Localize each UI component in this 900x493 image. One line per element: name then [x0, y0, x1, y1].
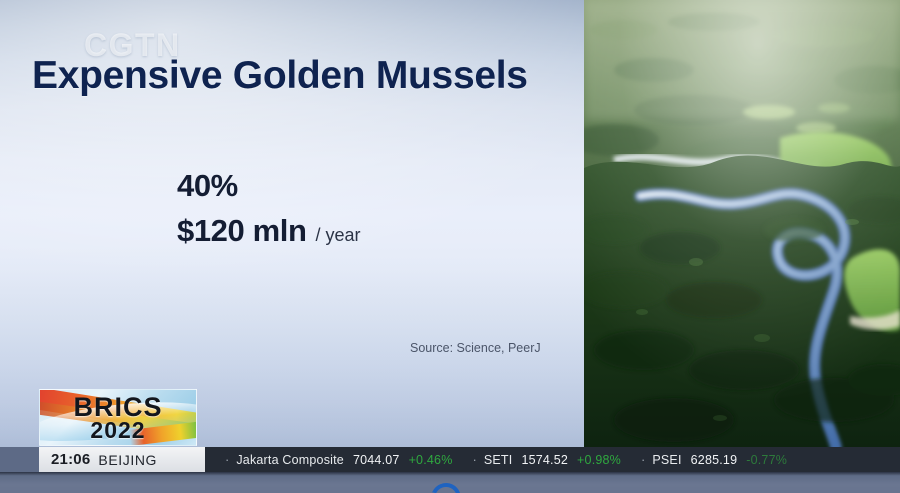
ticker-change: +0.46%: [409, 453, 453, 467]
clock-time: 21:06: [51, 451, 90, 468]
bullet-icon: ·: [225, 452, 229, 467]
ticker-name: Jakarta Composite: [236, 453, 344, 467]
bullet-icon: ·: [641, 452, 645, 467]
market-ticker-bar: · Jakarta Composite 7044.07 +0.46% · SET…: [205, 447, 900, 472]
brics-2022-logo: BRICS 2022: [39, 389, 197, 446]
ticker-item: · PSEI 6285.19 -0.77%: [621, 452, 787, 467]
ticker-name: PSEI: [652, 453, 681, 467]
bullet-icon: ·: [473, 452, 477, 467]
brics-logo-line2: 2022: [40, 419, 196, 442]
ticker-change: +0.98%: [577, 453, 621, 467]
video-frame: CGTN Expensive Golden Mussels 40% $120 m…: [0, 0, 900, 493]
ticker-value: 6285.19: [691, 453, 738, 467]
ticker-value: 1574.52: [521, 453, 568, 467]
ticker-item: · SETI 1574.52 +0.98%: [453, 452, 621, 467]
brics-logo-text: BRICS 2022: [40, 394, 196, 442]
clock-city: BEIJING: [98, 452, 157, 468]
stat-period: / year: [316, 225, 361, 246]
rainforest-illustration: [584, 0, 900, 447]
stat-percent: 40%: [177, 170, 361, 201]
clock-bar: 21:06 BEIJING: [39, 447, 205, 472]
source-credit: Source: Science, PeerJ: [410, 341, 541, 355]
page-title: Expensive Golden Mussels: [32, 54, 528, 98]
ticker-change: -0.77%: [746, 453, 787, 467]
stat-amount: $120 mln: [177, 213, 307, 249]
infographic-panel: CGTN Expensive Golden Mussels 40% $120 m…: [0, 0, 584, 447]
stat-amount-row: $120 mln / year: [177, 213, 361, 249]
rainforest-photo: [584, 0, 900, 447]
statistics-block: 40% $120 mln / year: [177, 170, 361, 249]
ticker-value: 7044.07: [353, 453, 400, 467]
ticker-name: SETI: [484, 453, 513, 467]
ticker-item: · Jakarta Composite 7044.07 +0.46%: [205, 452, 453, 467]
